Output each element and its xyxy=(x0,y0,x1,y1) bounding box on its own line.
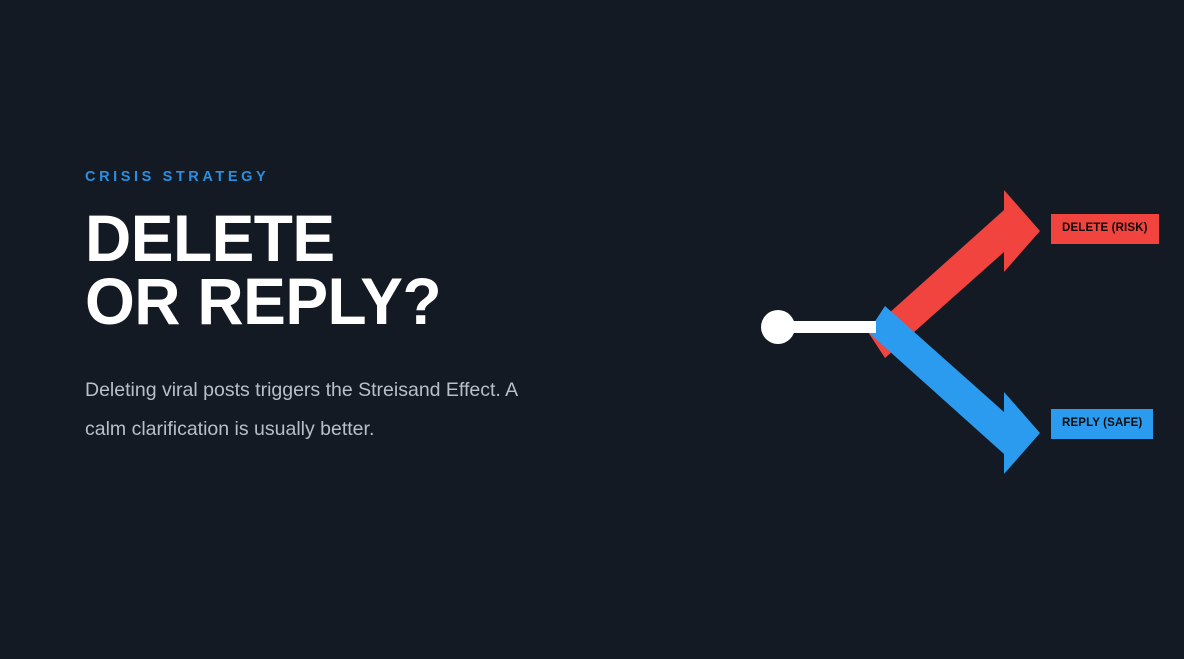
branch-safe-arrow xyxy=(868,306,1040,474)
body-paragraph: Deleting viral posts triggers the Streis… xyxy=(85,371,555,448)
branch-label-safe[interactable]: REPLY (SAFE) xyxy=(1051,409,1153,439)
slide-canvas: CRISIS STRATEGY DELETE OR REPLY? Deletin… xyxy=(0,0,1184,659)
start-node-circle xyxy=(761,310,795,344)
page-title: DELETE OR REPLY? xyxy=(85,207,628,334)
decision-fork-diagram: DELETE (RISK) REPLY (SAFE) xyxy=(740,180,1170,480)
text-column: CRISIS STRATEGY DELETE OR REPLY? Deletin… xyxy=(85,170,645,448)
headline-line-1: DELETE xyxy=(85,207,628,270)
eyebrow-label: CRISIS STRATEGY xyxy=(85,170,645,185)
branch-label-risk[interactable]: DELETE (RISK) xyxy=(1051,214,1159,244)
headline-line-2: OR REPLY? xyxy=(85,270,628,333)
